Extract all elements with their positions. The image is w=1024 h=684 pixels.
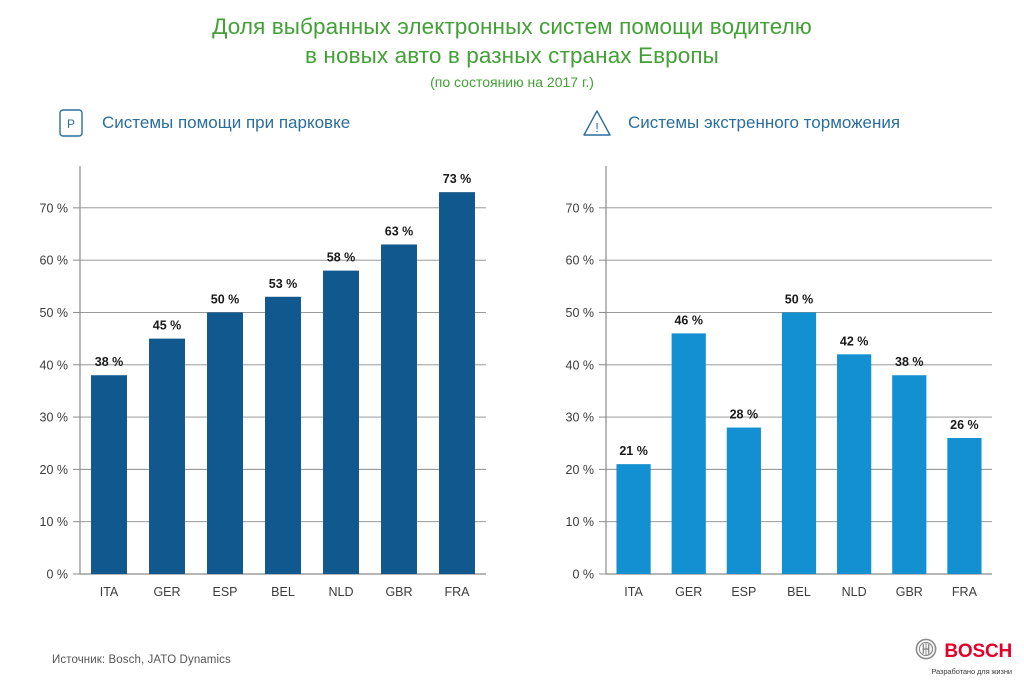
chart-panel-parking: P Системы помощи при парковке 0 %10 %20 … (18, 102, 514, 622)
x-axis-label: NLD (328, 585, 353, 599)
x-axis-label: GER (675, 585, 702, 599)
bosch-tagline: Разработано для жизни (931, 667, 1012, 676)
bar-value-label: 73 % (443, 172, 472, 186)
plot-parking: 0 %10 %20 %30 %40 %50 %60 %70 %38 %ITA45… (18, 152, 514, 622)
x-axis-label: BEL (271, 585, 295, 599)
bar-value-label: 53 % (269, 277, 298, 291)
x-axis-label: ITA (100, 585, 119, 599)
y-axis-label: 0 % (572, 568, 594, 582)
bar-value-label: 45 % (153, 319, 182, 333)
y-axis-label: 20 % (566, 463, 595, 477)
x-axis-label: GER (153, 585, 180, 599)
bar (947, 438, 981, 574)
y-axis-label: 30 % (566, 411, 595, 425)
x-axis-label: GBR (896, 585, 923, 599)
chart-panel-braking: ! Системы экстренного торможения 0 %10 %… (514, 102, 1010, 622)
y-axis-label: 70 % (40, 201, 69, 215)
bar-value-label: 42 % (840, 334, 869, 348)
bosch-wordmark: BOSCH (944, 642, 1012, 662)
bar (439, 192, 475, 574)
bar (323, 271, 359, 574)
bosch-logo: BOSCH Разработано для жизни (900, 638, 1012, 676)
x-axis-label: FRA (445, 585, 471, 599)
y-axis-label: 60 % (566, 254, 595, 268)
page-title: Доля выбранных электронных систем помощи… (0, 0, 1024, 92)
parking-icon-letter: P (67, 117, 75, 131)
bar-chart-braking: 0 %10 %20 %30 %40 %50 %60 %70 %21 %ITA46… (544, 152, 1014, 622)
bar (837, 354, 871, 574)
x-axis-label: BEL (787, 585, 811, 599)
y-axis-label: 20 % (40, 463, 69, 477)
bar-value-label: 63 % (385, 224, 414, 238)
bar-value-label: 46 % (674, 313, 703, 327)
y-axis-label: 40 % (566, 358, 595, 372)
bosch-logo-top: BOSCH (915, 638, 1012, 665)
y-axis-label: 40 % (40, 358, 69, 372)
y-axis-label: 0 % (46, 568, 68, 582)
bar-value-label: 26 % (950, 418, 979, 432)
bar (616, 464, 650, 574)
bosch-emblem-icon (915, 638, 937, 665)
bar (672, 333, 706, 574)
panel-header-braking: ! Системы экстренного торможения (544, 102, 1010, 144)
x-axis-label: GBR (385, 585, 412, 599)
plot-braking: 0 %10 %20 %30 %40 %50 %60 %70 %21 %ITA46… (544, 152, 1010, 622)
y-axis-label: 50 % (40, 306, 69, 320)
bar (727, 428, 761, 574)
bar (265, 297, 301, 574)
bar (149, 339, 185, 574)
bar-chart-parking: 0 %10 %20 %30 %40 %50 %60 %70 %38 %ITA45… (18, 152, 508, 622)
bar (381, 244, 417, 574)
title-subtitle: (по состоянию на 2017 г.) (0, 72, 1024, 92)
panel-title-braking: Системы экстренного торможения (628, 113, 900, 133)
x-axis-label: ESP (731, 585, 756, 599)
bar-value-label: 50 % (211, 292, 240, 306)
panel-title-parking: Системы помощи при парковке (102, 113, 350, 133)
warning-triangle-icon: ! (582, 108, 612, 138)
y-axis-label: 10 % (566, 515, 595, 529)
bar-value-label: 28 % (730, 408, 759, 422)
warning-icon-glyph: ! (595, 120, 599, 135)
bar-value-label: 38 % (95, 355, 124, 369)
y-axis-label: 70 % (566, 201, 595, 215)
x-axis-label: NLD (842, 585, 867, 599)
charts-row: P Системы помощи при парковке 0 %10 %20 … (0, 102, 1024, 622)
x-axis-label: ESP (212, 585, 237, 599)
parking-p-icon: P (56, 108, 86, 138)
panel-header-parking: P Системы помощи при парковке (18, 102, 514, 144)
y-axis-label: 30 % (40, 411, 69, 425)
bar-value-label: 21 % (619, 444, 648, 458)
bar (782, 312, 816, 574)
title-line-2: в новых авто в разных странах Европы (0, 41, 1024, 70)
source-note: Источник: Bosch, JATO Dynamics (52, 654, 231, 666)
y-axis-label: 10 % (40, 515, 69, 529)
title-line-1: Доля выбранных электронных систем помощи… (0, 12, 1024, 41)
bar (91, 375, 127, 574)
bar-value-label: 50 % (785, 292, 814, 306)
bar (207, 312, 243, 574)
bar-value-label: 58 % (327, 251, 356, 265)
bar (892, 375, 926, 574)
y-axis-label: 50 % (566, 306, 595, 320)
x-axis-label: ITA (624, 585, 643, 599)
bar-value-label: 38 % (895, 355, 924, 369)
x-axis-label: FRA (952, 585, 978, 599)
y-axis-label: 60 % (40, 254, 69, 268)
